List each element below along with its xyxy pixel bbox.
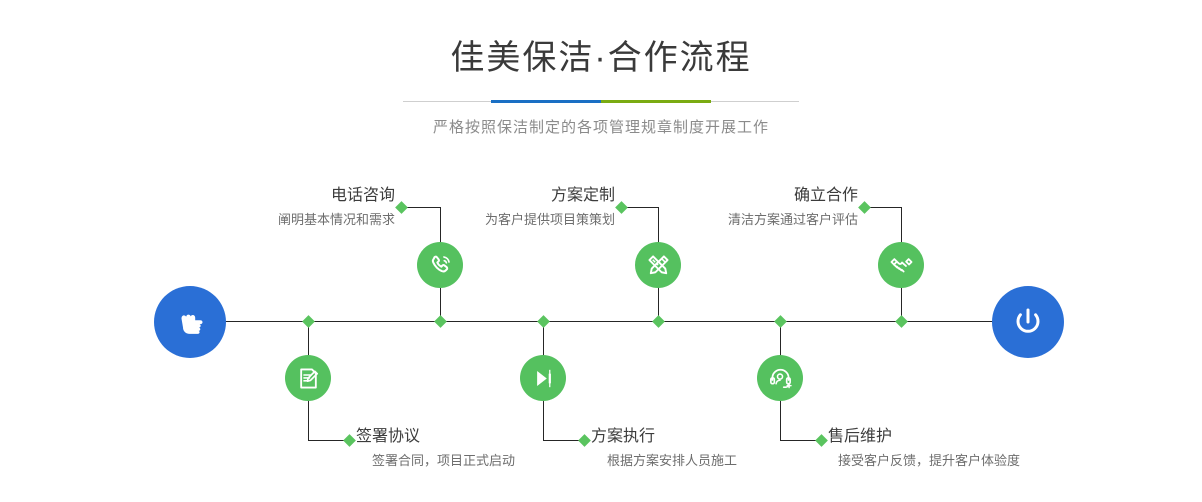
page-subtitle: 严格按照保洁制定的各项管理规章制度开展工作 xyxy=(0,116,1202,137)
power-icon xyxy=(1008,302,1048,342)
connector-marker-axis-top-1 xyxy=(434,315,447,328)
step-label-top-3: 确立合作 清洁方案通过客户评估 xyxy=(665,186,858,229)
headset-support-icon xyxy=(767,365,794,392)
flowchart-canvas: 佳美保洁·合作流程 严格按照保洁制定的各项管理规章制度开展工作 xyxy=(0,0,1202,502)
timeline-end-node[interactable] xyxy=(992,286,1064,358)
divider-segment-blue xyxy=(491,100,601,103)
page-title: 佳美保洁·合作流程 xyxy=(0,38,1202,78)
step-title: 方案定制 xyxy=(425,186,615,206)
connector-marker-label-top-2 xyxy=(615,201,628,214)
step-desc: 接受客户反馈，提升客户体验度 xyxy=(828,452,1088,470)
step-desc: 清洁方案通过客户评估 xyxy=(665,211,858,229)
step-node-bottom-3[interactable] xyxy=(757,355,803,401)
hand-pointing-icon xyxy=(170,302,210,342)
connector-marker-axis-top-3 xyxy=(895,315,908,328)
step-node-top-3[interactable] xyxy=(878,242,924,288)
step-desc: 为客户提供项目策策划 xyxy=(425,211,615,229)
step-title: 确立合作 xyxy=(665,186,858,206)
pencil-ruler-icon xyxy=(645,252,672,279)
step-title: 售后维护 xyxy=(828,427,1088,447)
step-desc: 根据方案安排人员施工 xyxy=(591,452,821,470)
step-desc: 阐明基本情况和需求 xyxy=(205,211,395,229)
connector-marker-axis-top-2 xyxy=(652,315,665,328)
step-desc: 签署合同，项目正式启动 xyxy=(356,452,586,470)
step-label-top-1: 电话咨询 阐明基本情况和需求 xyxy=(205,186,395,229)
step-node-top-1[interactable] xyxy=(417,242,463,288)
phone-call-icon xyxy=(427,252,454,279)
connector-marker-axis-bottom-3 xyxy=(774,315,787,328)
connector-marker-label-bottom-1 xyxy=(343,434,356,447)
title-divider xyxy=(403,100,799,103)
step-label-bottom-3: 售后维护 接受客户反馈，提升客户体验度 xyxy=(828,427,1088,470)
connector-marker-axis-bottom-1 xyxy=(302,315,315,328)
step-title: 电话咨询 xyxy=(205,186,395,206)
connector-marker-axis-bottom-2 xyxy=(537,315,550,328)
timeline-start-node[interactable] xyxy=(154,286,226,358)
step-title: 方案执行 xyxy=(591,427,821,447)
step-label-top-2: 方案定制 为客户提供项目策策划 xyxy=(425,186,615,229)
step-title: 签署协议 xyxy=(356,427,586,447)
divider-segment-green xyxy=(601,100,711,103)
handshake-icon xyxy=(888,252,915,279)
step-node-bottom-1[interactable] xyxy=(285,355,331,401)
step-node-top-2[interactable] xyxy=(635,242,681,288)
step-label-bottom-2: 方案执行 根据方案安排人员施工 xyxy=(591,427,821,470)
connector-marker-label-top-1 xyxy=(395,201,408,214)
connector-marker-label-top-3 xyxy=(858,201,871,214)
step-node-bottom-2[interactable] xyxy=(520,355,566,401)
play-execute-icon xyxy=(530,365,557,392)
document-sign-icon xyxy=(295,365,322,392)
header: 佳美保洁·合作流程 严格按照保洁制定的各项管理规章制度开展工作 xyxy=(0,0,1202,137)
step-label-bottom-1: 签署协议 签署合同，项目正式启动 xyxy=(356,427,586,470)
